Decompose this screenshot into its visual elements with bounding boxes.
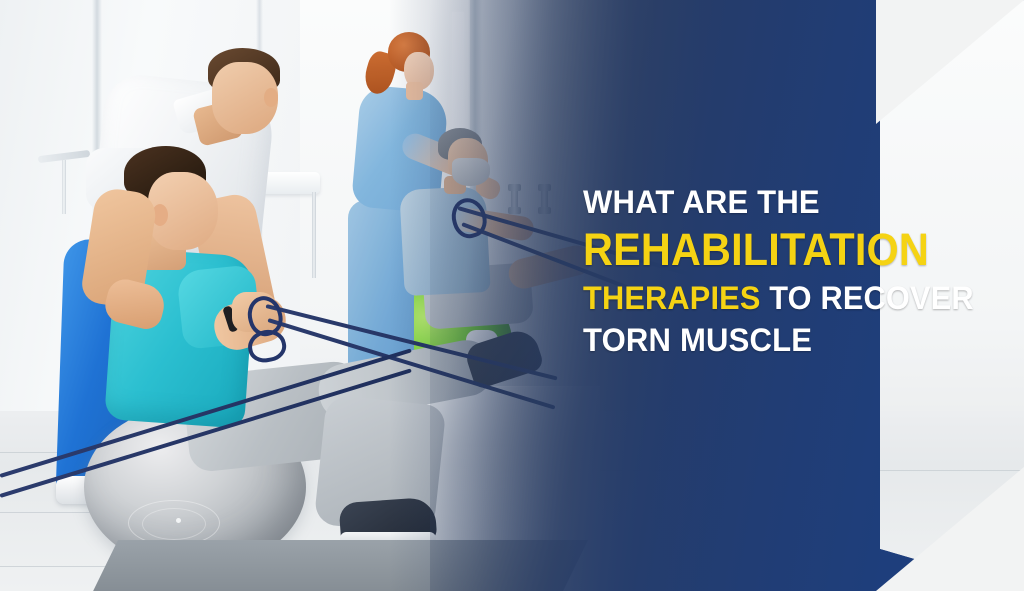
headline-line-2: REHABILITATION <box>583 227 969 272</box>
headline-line-3: THERAPIES TO RECOVER <box>583 282 986 314</box>
headline-line-3-rest: TO RECOVER <box>761 280 974 316</box>
headline-line-1: WHAT ARE THE <box>583 186 990 218</box>
headline-line-4: TORN MUSCLE <box>583 324 990 356</box>
headline-block: WHAT ARE THE REHABILITATION THERAPIES TO… <box>583 186 1003 356</box>
headline-highlight-therapies: THERAPIES <box>583 280 761 316</box>
article-hero-banner: WHAT ARE THE REHABILITATION THERAPIES TO… <box>0 0 1024 591</box>
